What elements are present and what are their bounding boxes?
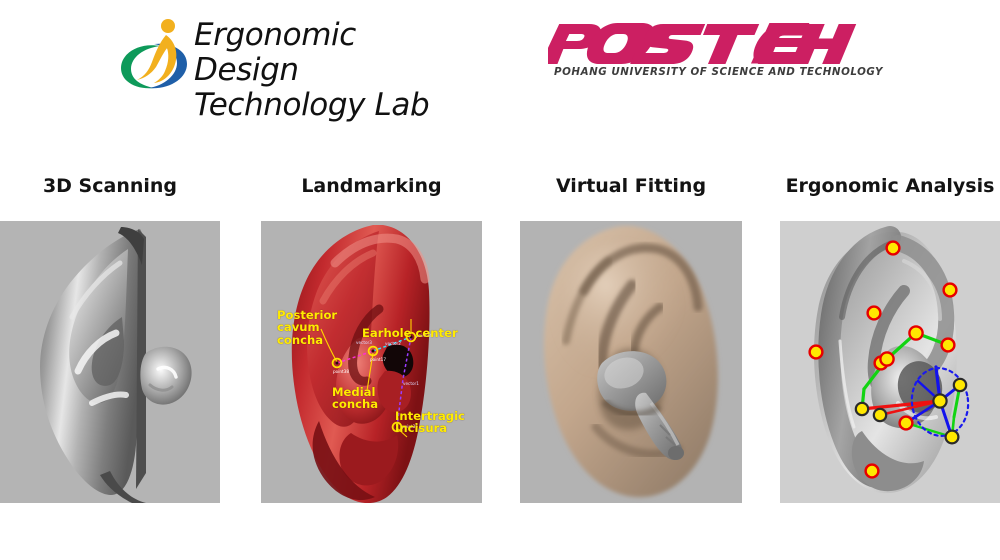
vector-label-vector1: vector1 bbox=[403, 381, 419, 386]
vector-label-vector2: vector2 bbox=[385, 341, 401, 346]
ear-scan-mesh bbox=[0, 221, 220, 503]
ear-landmark-graph bbox=[780, 221, 1000, 503]
university-logo: POHANG UNIVERSITY OF SCIENCE AND TECHNOL… bbox=[548, 20, 858, 86]
landmark-label-intertragic-incisura: Intertragic Incisura bbox=[395, 410, 477, 435]
landmark-label-medial-concha: Medial concha bbox=[332, 386, 392, 411]
ear-landmark-mesh bbox=[261, 221, 482, 503]
point-label-point38: point38 bbox=[333, 369, 349, 374]
page-header: Ergonomic Design Technology Lab bbox=[0, 0, 1000, 110]
section-title-scanning: 3D Scanning bbox=[0, 174, 220, 198]
point-label-point17: point17 bbox=[370, 357, 386, 362]
postech-wordmark bbox=[548, 20, 858, 64]
section-title-ergonomic-analysis: Ergonomic Analysis bbox=[780, 174, 1000, 198]
lab-logo: Ergonomic Design Technology Lab bbox=[118, 12, 458, 94]
panel-ergonomic-analysis[interactable] bbox=[780, 221, 1000, 503]
panel-3d-scanning[interactable] bbox=[0, 221, 220, 503]
edtl-running-figure-ring-icon bbox=[118, 16, 192, 92]
lab-logo-line1: Ergonomic Design bbox=[194, 17, 356, 88]
landmark-label-posterior-cavum-concha: Posterior cavum concha bbox=[277, 309, 357, 346]
ear-with-earbud-render bbox=[520, 221, 742, 503]
section-title-virtual-fitting: Virtual Fitting bbox=[520, 174, 742, 198]
panel-virtual-fitting[interactable] bbox=[520, 221, 742, 503]
university-tagline: POHANG UNIVERSITY OF SCIENCE AND TECHNOL… bbox=[554, 66, 854, 78]
lab-logo-line2: Technology Lab bbox=[194, 88, 456, 123]
section-title-landmarking: Landmarking bbox=[261, 174, 482, 198]
lab-logo-text: Ergonomic Design Technology Lab bbox=[194, 18, 456, 90]
landmark-label-earhole-center: Earhole center bbox=[362, 327, 482, 339]
vector-label-vector3: vector3 bbox=[356, 340, 372, 345]
panel-landmarking[interactable]: point38 point17 point34 point35 vector3 … bbox=[261, 221, 482, 503]
